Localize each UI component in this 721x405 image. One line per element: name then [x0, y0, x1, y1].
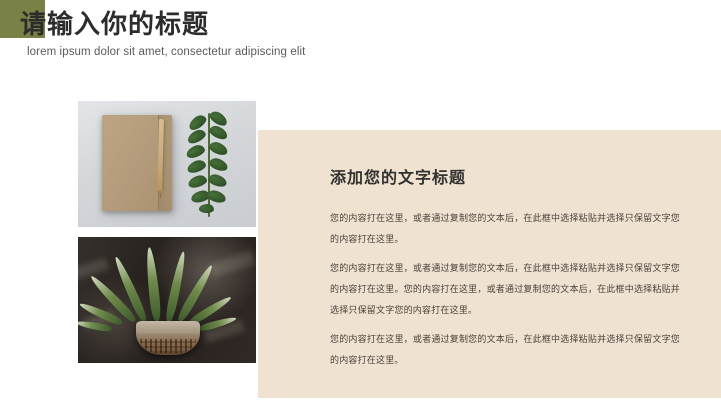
leaf — [208, 156, 229, 172]
basket-pot — [136, 321, 200, 355]
panel-paragraph: 您的内容打在这里，或者通过复制您的文本后，在此框中选择粘贴并选择只保留文字您的内… — [330, 329, 680, 371]
leaf — [186, 127, 208, 145]
panel-paragraph: 您的内容打在这里，或者通过复制您的文本后，在此框中选择粘贴并选择只保留文字您的内… — [330, 208, 680, 250]
leaf-branch — [186, 111, 234, 219]
leaf — [208, 124, 230, 142]
leaf — [208, 109, 230, 128]
page-title: 请输入你的标题 — [20, 8, 209, 40]
leaf — [207, 173, 228, 189]
panel-paragraph: 您的内容打在这里，或者通过复制您的文本后，在此框中选择粘贴并选择只保留文字您的内… — [330, 258, 680, 321]
leaf — [208, 140, 230, 157]
leaf — [187, 174, 208, 190]
leaf — [185, 143, 207, 160]
pot-weave — [140, 339, 196, 353]
notebook-photo — [78, 101, 256, 227]
potted-plant-photo — [78, 237, 256, 363]
panel-heading: 添加您的文字标题 — [330, 168, 466, 190]
slide-canvas: 请输入你的标题 lorem ipsum dolor sit amet, cons… — [0, 0, 721, 405]
panel-body: 您的内容打在这里，或者通过复制您的文本后，在此框中选择粘贴并选择只保留文字您的内… — [330, 208, 680, 371]
leaf — [186, 158, 207, 174]
leaf — [199, 204, 214, 214]
page-subtitle: lorem ipsum dolor sit amet, consectetur … — [27, 44, 305, 60]
pot-rim — [136, 321, 200, 333]
